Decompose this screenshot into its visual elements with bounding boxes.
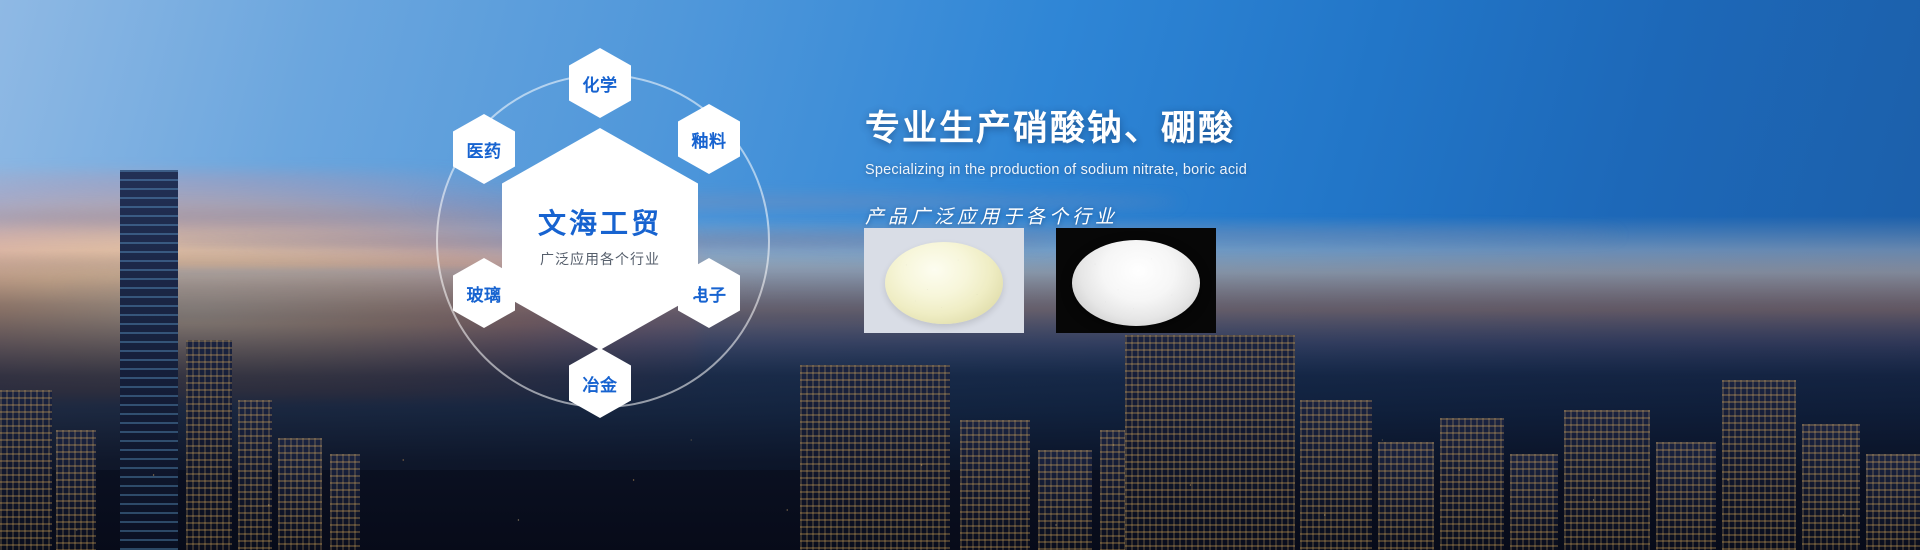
powder-pile [885,242,1003,324]
powder-grain-texture [885,242,1003,324]
headline-block: 专业生产硝酸钠、硼酸 Specializing in the productio… [865,100,1505,229]
product-photo-caption: 硼酸样品 [1056,228,1057,229]
product-photo-row: 硝酸钠样品 硼酸样品 [864,228,1216,333]
company-name: 文海工贸 [538,209,662,240]
product-photo-sodium-nitrate[interactable]: 硝酸钠样品 [864,228,1024,333]
hex-node-label: 釉料 [692,127,727,152]
headline-english: Specializing in the production of sodium… [865,162,1505,178]
product-photo-caption: 硝酸钠样品 [864,228,865,229]
city-lights [0,300,1920,550]
headline: 专业生产硝酸钠、硼酸 [865,100,1505,151]
product-photo-boric-acid[interactable]: 硼酸样品 [1056,228,1216,333]
powder-pile [1072,240,1200,326]
hex-node-label: 医药 [467,137,502,162]
company-tagline: 广泛应用各个行业 [540,249,660,269]
powder-grain-texture [1072,240,1200,326]
tagline: 产品广泛应用于各个行业 [865,202,1505,229]
industry-hex-diagram: 化学 釉料 电子 冶金 玻璃 医药 文海工贸 广泛应用各个行业 [430,30,790,450]
hex-node-label: 玻璃 [467,281,502,306]
hero-banner: 化学 釉料 电子 冶金 玻璃 医药 文海工贸 广泛应用各个行业 专业生产硝酸钠、… [0,0,1920,550]
hex-node-label: 冶金 [583,371,618,396]
hex-node-label: 化学 [583,71,618,96]
